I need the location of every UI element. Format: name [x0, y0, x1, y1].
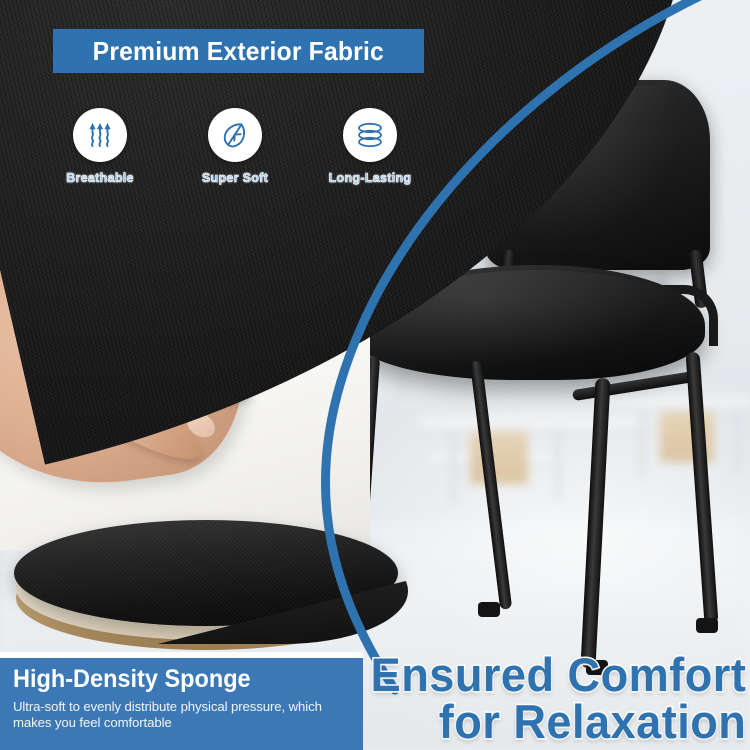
headline-line-1: Ensured Comfort	[370, 653, 746, 697]
headline-block: Ensured Comfort for Relaxation	[355, 653, 746, 744]
product-infographic-poster: Premium Exterior Fabric	[0, 0, 750, 750]
page-title: Premium Exterior Fabric	[93, 36, 384, 67]
high-density-sponge-banner: High-Density Sponge Ultra-soft to evenly…	[0, 658, 363, 750]
premium-fabric-banner: Premium Exterior Fabric	[53, 29, 424, 73]
feature-icon-row: Breathable Super Soft	[40, 108, 430, 198]
breathable-icon	[85, 120, 115, 150]
cushion-cutaway-photo	[8, 520, 408, 665]
feature-super-soft: Super Soft	[175, 108, 295, 198]
feature-long-lasting: Long-Lasting	[310, 108, 430, 198]
feature-label: Long-Lasting	[329, 171, 412, 185]
breathable-icon-badge	[73, 108, 127, 162]
info-banner-title: High-Density Sponge	[13, 667, 342, 693]
feature-label: Breathable	[66, 171, 134, 185]
chair-foot-cap	[478, 602, 500, 617]
feature-label: Super Soft	[202, 171, 268, 185]
super-soft-icon-badge	[208, 108, 262, 162]
long-lasting-icon	[354, 120, 386, 150]
long-lasting-icon-badge	[343, 108, 397, 162]
super-soft-icon	[220, 120, 250, 150]
chair-foot-cap	[696, 618, 718, 633]
headline-line-2: for Relaxation	[370, 700, 746, 744]
info-banner-body: Ultra-soft to evenly distribute physical…	[13, 699, 363, 733]
fabric-swatch-region	[0, 0, 750, 560]
feature-breathable: Breathable	[40, 108, 160, 198]
